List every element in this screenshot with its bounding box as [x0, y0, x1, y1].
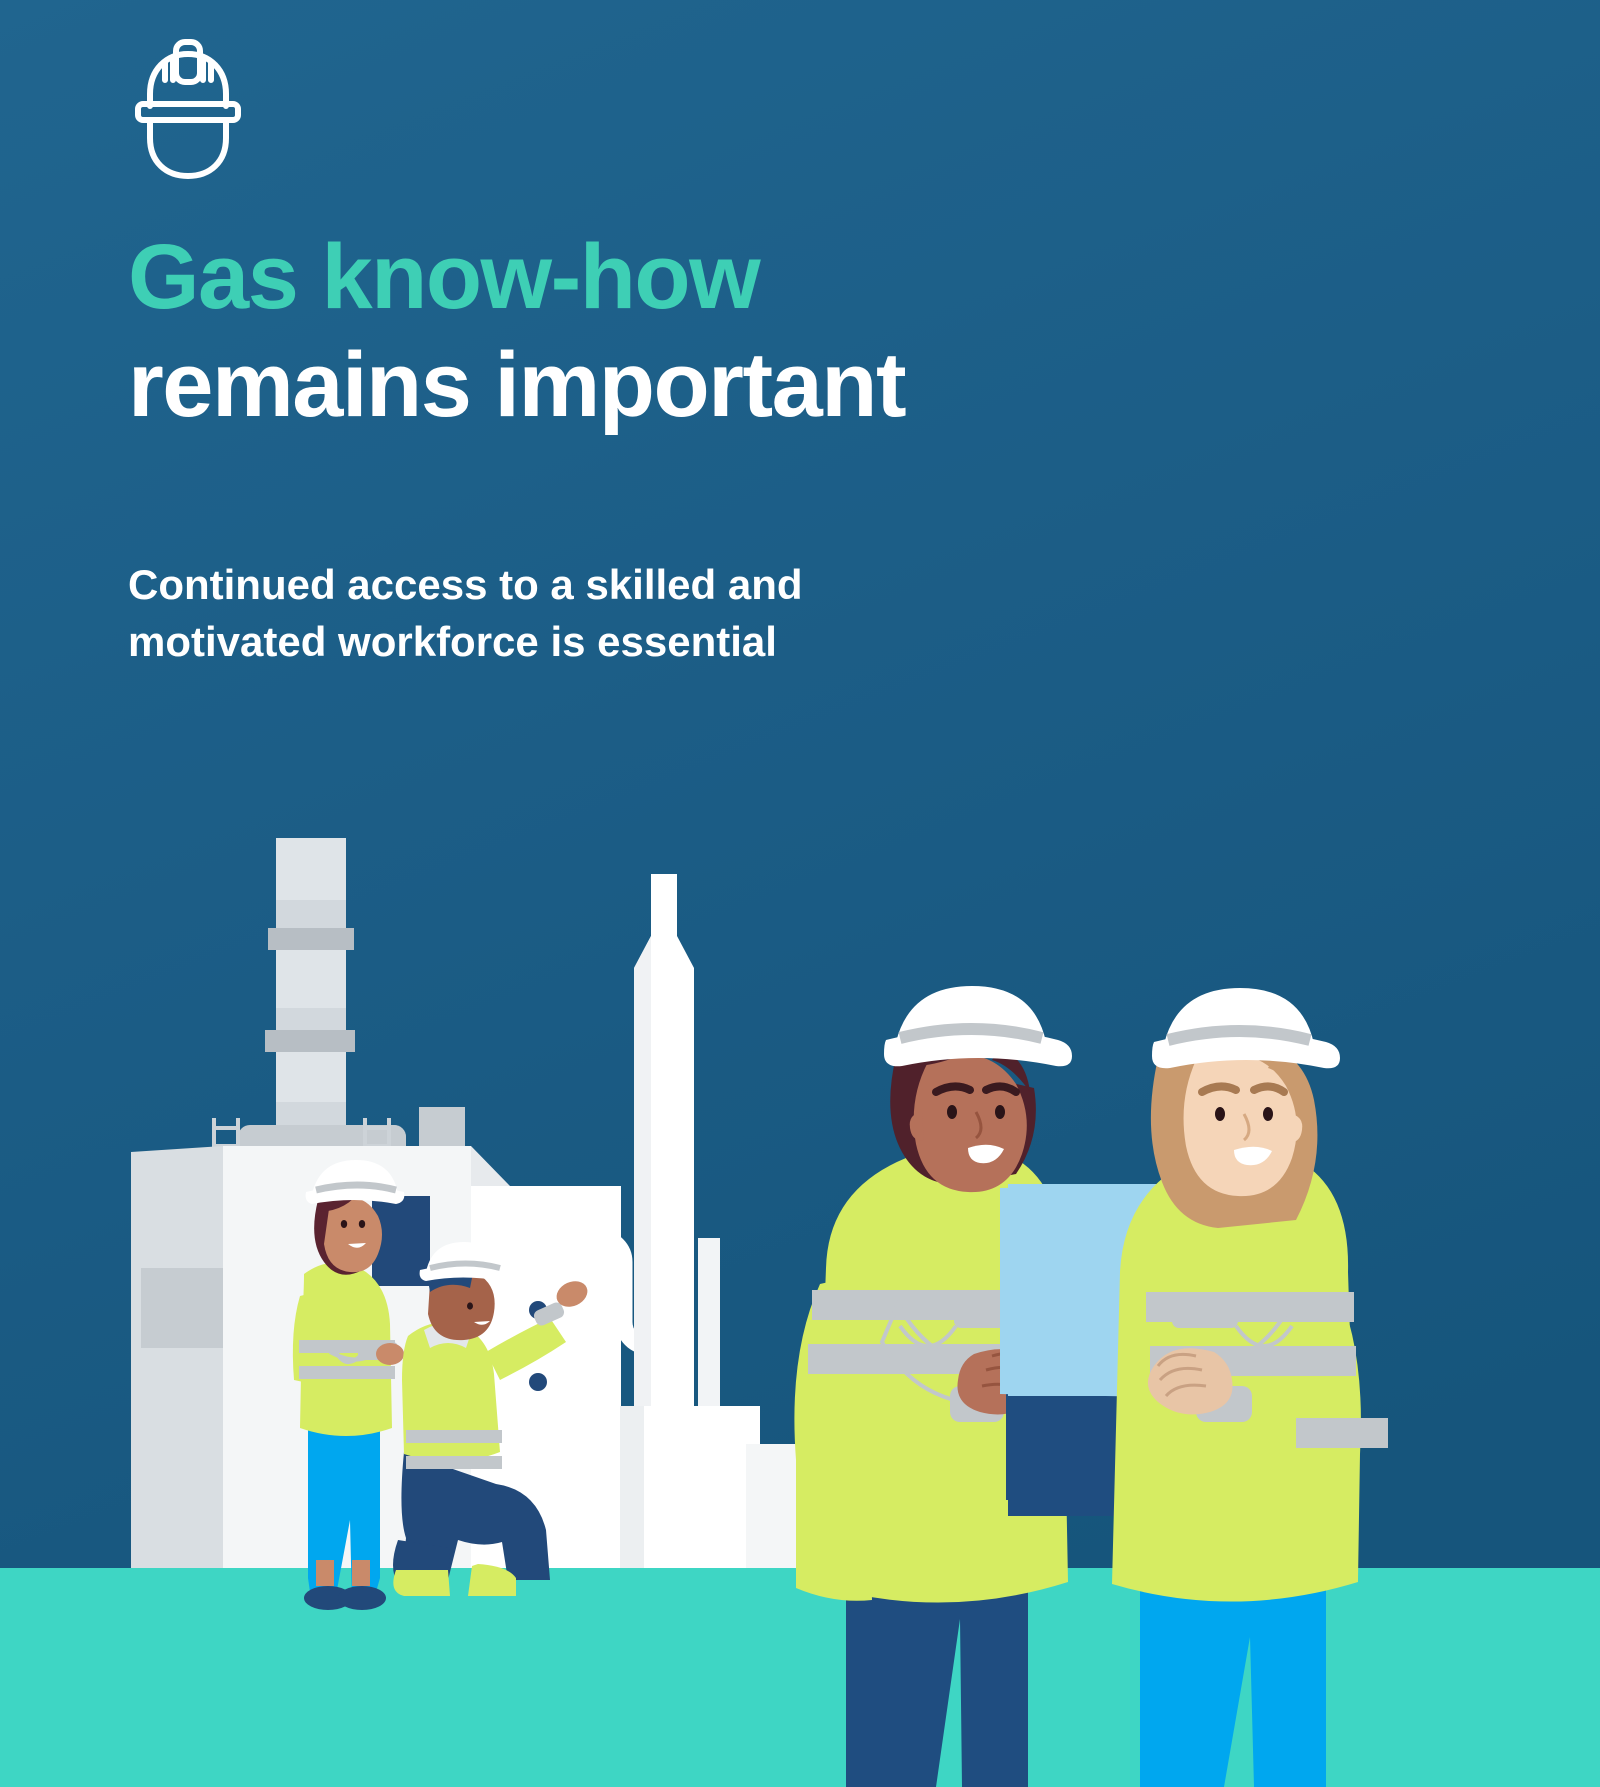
column-strip: [698, 1238, 720, 1406]
page-title: Gas know-how remains important: [128, 224, 1228, 439]
distillation-tower: [634, 874, 694, 1406]
title-line-1: Gas know-how: [128, 224, 1228, 332]
poster-canvas: Gas know-how remains important Continued…: [0, 0, 1600, 1787]
shoe-right: [338, 1586, 386, 1610]
ground-plane: [0, 1568, 1600, 1787]
page-subtitle: Continued access to a skilled and motiva…: [128, 556, 1028, 670]
title-line-2: remains important: [128, 332, 1228, 440]
subtitle-line-1: Continued access to a skilled and: [128, 556, 1028, 613]
hard-hat-icon: [128, 34, 248, 184]
refinery-stack: [265, 838, 355, 1126]
subtitle-line-2: motivated workforce is essential: [128, 613, 1028, 670]
